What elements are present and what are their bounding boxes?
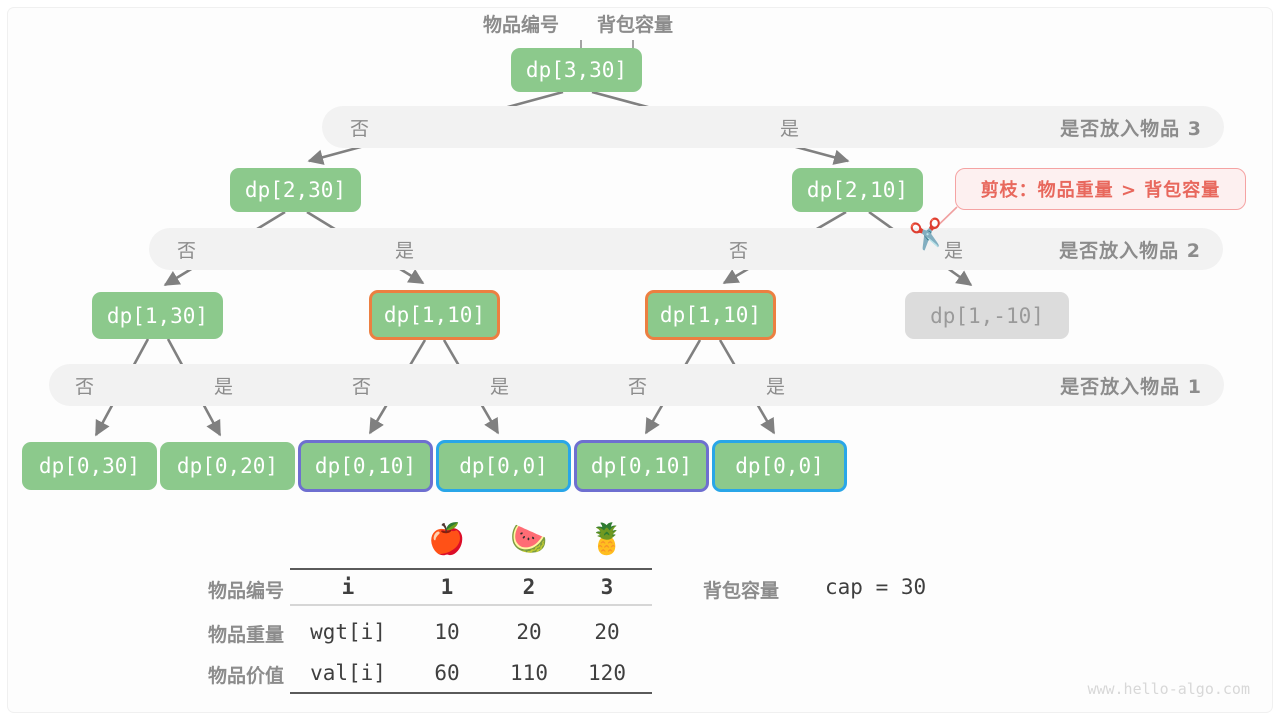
table-cell-wgt-1: 10 bbox=[418, 620, 476, 644]
node-dp-0-20[interactable]: dp[0,20] bbox=[160, 442, 295, 490]
node-dp-1-10-right[interactable]: dp[1,10] bbox=[645, 290, 776, 340]
band3-label-no: 否 bbox=[350, 114, 369, 141]
row-label-item-value: 物品价值 bbox=[160, 661, 284, 688]
table-header-rule bbox=[290, 604, 652, 606]
node-dp-1-minus-10-pruned[interactable]: dp[1,-10] bbox=[905, 292, 1069, 339]
table-head-val: val[i] bbox=[302, 661, 394, 685]
band1-label-yes-2: 是 bbox=[490, 372, 509, 399]
node-dp-0-10-right[interactable]: dp[0,10] bbox=[574, 440, 709, 492]
table-cell-wgt-2: 20 bbox=[500, 620, 558, 644]
row-label-item-weight: 物品重量 bbox=[160, 620, 284, 647]
band-item-1: 否 是 否 是 否 是 是否放入物品 1 bbox=[49, 364, 1224, 406]
fruit-pineapple-icon: 🍍 bbox=[578, 525, 636, 555]
band2-label-yes-1: 是 bbox=[395, 236, 414, 263]
band2-label-no-1: 否 bbox=[177, 236, 196, 263]
table-cell-i-1: 1 bbox=[418, 575, 476, 599]
band2-label-yes-2: 是 bbox=[944, 236, 963, 263]
band1-label-yes-1: 是 bbox=[214, 372, 233, 399]
table-cell-i-2: 2 bbox=[500, 575, 558, 599]
row-label-item-index: 物品编号 bbox=[160, 576, 284, 603]
table-cell-wgt-3: 20 bbox=[578, 620, 636, 644]
node-dp-2-30[interactable]: dp[2,30] bbox=[230, 168, 361, 212]
band2-title: 是否放入物品 2 bbox=[1059, 236, 1201, 263]
band-item-2: 否 是 否 是 是否放入物品 2 bbox=[149, 228, 1223, 270]
caption-item-index: 物品编号 bbox=[483, 10, 559, 37]
node-dp-0-0-right[interactable]: dp[0,0] bbox=[712, 440, 847, 492]
watermark: www.hello-algo.com bbox=[1087, 680, 1250, 698]
node-dp-3-30[interactable]: dp[3,30] bbox=[511, 48, 642, 92]
scissors-icon: ✂️ bbox=[908, 218, 947, 252]
table-bottom-rule bbox=[290, 692, 652, 694]
band1-label-no-2: 否 bbox=[352, 372, 371, 399]
band1-label-no-3: 否 bbox=[628, 372, 647, 399]
fruit-watermelon-icon: 🍉 bbox=[500, 525, 558, 555]
capacity-label: 背包容量 bbox=[703, 576, 779, 603]
caption-bag-capacity: 背包容量 bbox=[597, 10, 673, 37]
band3-label-yes: 是 bbox=[780, 114, 799, 141]
capacity-value: cap = 30 bbox=[825, 575, 926, 599]
node-dp-0-0-left[interactable]: dp[0,0] bbox=[436, 440, 571, 492]
diagram-canvas: 物品编号 背包容量 否 是 是否放入物品 3 否 是 否 是 是否放入物品 2 … bbox=[0, 0, 1280, 720]
table-head-wgt: wgt[i] bbox=[302, 620, 394, 644]
node-dp-2-10[interactable]: dp[2,10] bbox=[792, 168, 923, 212]
fruit-apple-icon: 🍎 bbox=[418, 525, 476, 555]
table-cell-val-1: 60 bbox=[418, 661, 476, 685]
prune-callout: 剪枝：物品重量 > 背包容量 bbox=[955, 168, 1246, 210]
table-top-rule bbox=[290, 568, 652, 570]
band1-label-no-1: 否 bbox=[75, 372, 94, 399]
band3-title: 是否放入物品 3 bbox=[1060, 114, 1202, 141]
node-dp-0-30[interactable]: dp[0,30] bbox=[22, 442, 157, 490]
band-item-3: 否 是 是否放入物品 3 bbox=[322, 106, 1224, 148]
band1-title: 是否放入物品 1 bbox=[1060, 372, 1202, 399]
table-cell-i-3: 3 bbox=[578, 575, 636, 599]
table-cell-val-3: 120 bbox=[578, 661, 636, 685]
table-cell-val-2: 110 bbox=[500, 661, 558, 685]
band2-label-no-2: 否 bbox=[729, 236, 748, 263]
node-dp-1-30[interactable]: dp[1,30] bbox=[92, 292, 223, 339]
table-head-i: i bbox=[302, 575, 394, 599]
node-dp-0-10-left[interactable]: dp[0,10] bbox=[298, 440, 433, 492]
band1-label-yes-3: 是 bbox=[766, 372, 785, 399]
node-dp-1-10-left[interactable]: dp[1,10] bbox=[369, 290, 500, 340]
